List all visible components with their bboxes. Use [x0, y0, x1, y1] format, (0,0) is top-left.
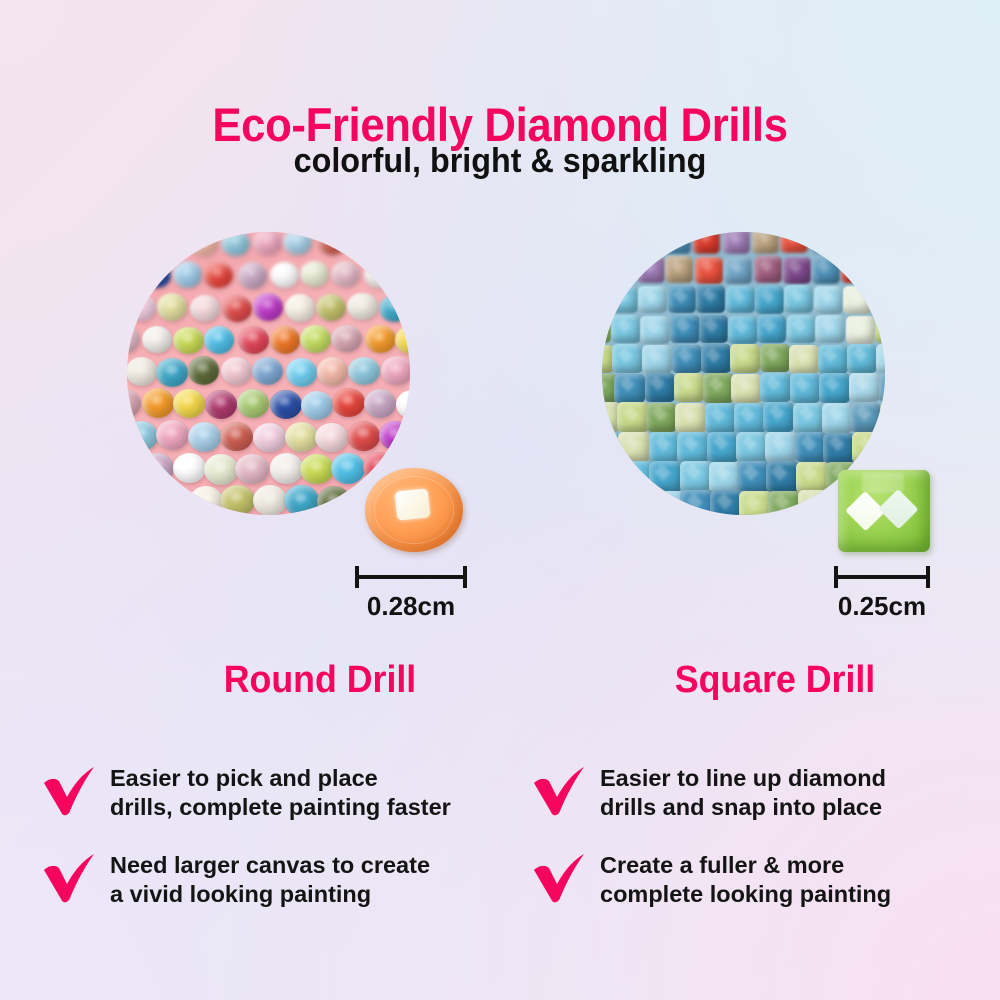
- round-bead: [270, 390, 302, 419]
- square-bead: [635, 232, 663, 254]
- square-bead: [640, 316, 669, 344]
- round-bead: [173, 261, 202, 288]
- square-bead: [675, 403, 706, 433]
- bullet-line: Easier to line up diamond: [600, 764, 886, 793]
- round-bead: [142, 262, 171, 289]
- square-bead: [839, 232, 867, 254]
- square-bead: [818, 345, 848, 374]
- round-bead: [173, 453, 207, 483]
- square-drill-heading: Square Drill: [634, 659, 916, 702]
- dimension-cap-right: [463, 566, 467, 588]
- round-bead: [157, 293, 187, 320]
- square-bead: [734, 403, 765, 433]
- square-bead: [760, 373, 791, 402]
- round-bead: [189, 232, 218, 256]
- square-bead: [649, 432, 681, 462]
- round-bead: [331, 261, 360, 288]
- square-bead: [876, 344, 885, 373]
- square-bead: [766, 461, 799, 492]
- round-bead: [127, 421, 158, 451]
- round-bead: [156, 486, 190, 515]
- round-bead: [286, 358, 318, 386]
- square-bead: [852, 432, 884, 462]
- square-bead: [843, 286, 872, 313]
- round-bead: [221, 357, 253, 385]
- square-bead: [693, 232, 721, 254]
- square-bead: [611, 315, 640, 343]
- round-bead: [173, 327, 204, 355]
- square-bead: [705, 403, 736, 433]
- square-bead: [605, 232, 633, 253]
- square-bead: [637, 256, 665, 283]
- square-bead: [617, 402, 648, 432]
- round-bead: [188, 356, 220, 384]
- square-bead: [783, 257, 811, 284]
- round-bead: [205, 390, 237, 419]
- round-bead: [283, 232, 312, 255]
- square-bead: [730, 344, 760, 373]
- round-bead: [127, 261, 140, 288]
- round-bead: [348, 357, 380, 385]
- round-bead: [235, 454, 269, 484]
- dimension-line: [834, 575, 930, 579]
- round-bead-field: [127, 232, 410, 515]
- round-bead: [381, 232, 410, 256]
- square-bead: [674, 373, 705, 402]
- round-bead: [156, 420, 189, 450]
- round-bead: [252, 357, 284, 385]
- round-bead: [331, 453, 365, 483]
- square-bead: [663, 232, 691, 254]
- square-bead: [868, 232, 886, 253]
- square-bead: [731, 374, 762, 403]
- round-bead: [379, 421, 410, 451]
- round-bead: [395, 326, 410, 354]
- bullet-line: Easier to pick and place: [110, 764, 451, 793]
- square-drill-highlight-left: [845, 491, 885, 531]
- round-bead: [347, 421, 380, 451]
- round-bead: [300, 454, 334, 484]
- square-bead: [815, 315, 844, 343]
- bullet-line: a vivid looking painting: [110, 880, 430, 909]
- round-bead: [127, 485, 160, 515]
- round-bead: [396, 390, 410, 419]
- square-bead: [726, 286, 755, 313]
- square-bead: [793, 403, 824, 433]
- round-drill-photo: [127, 232, 410, 515]
- square-bead: [695, 257, 723, 284]
- round-bead: [221, 232, 250, 256]
- square-bead: [811, 232, 839, 253]
- square-bead: [875, 315, 885, 343]
- round-bead: [270, 262, 299, 289]
- round-bead: [253, 293, 283, 320]
- round-bead: [238, 326, 269, 354]
- square-bead: [823, 433, 855, 463]
- round-bead: [284, 485, 318, 515]
- check-icon-glyph: [532, 766, 588, 818]
- round-bead: [142, 388, 174, 417]
- square-bead: [780, 232, 808, 253]
- bullet-item: Easier to line up diamonddrills and snap…: [532, 762, 992, 821]
- square-bead: [724, 257, 752, 284]
- square-bead: [752, 232, 780, 254]
- square-bead: [670, 315, 699, 343]
- square-bead: [763, 402, 794, 432]
- square-bead: [850, 403, 881, 433]
- square-bead: [814, 286, 843, 313]
- square-bead: [668, 286, 697, 313]
- round-bead: [381, 356, 410, 384]
- round-bead: [127, 232, 154, 256]
- round-size-indicator: 0.28cm: [355, 566, 467, 622]
- square-bead: [812, 257, 840, 284]
- square-bead: [755, 286, 784, 313]
- square-bead: [680, 461, 713, 492]
- check-icon: [532, 853, 588, 905]
- check-icon-glyph: [532, 853, 588, 905]
- square-bead: [728, 316, 757, 344]
- round-bead: [127, 389, 141, 418]
- square-bead: [881, 432, 885, 462]
- round-bead: [316, 294, 346, 321]
- round-bead: [347, 293, 377, 320]
- round-bead: [204, 326, 235, 354]
- round-bead: [364, 389, 396, 418]
- round-bead: [253, 485, 287, 515]
- round-bead: [332, 388, 364, 417]
- bullet-item: Easier to pick and placedrills, complete…: [42, 762, 502, 821]
- square-bead: [765, 432, 797, 462]
- dimension-cap-right: [926, 566, 930, 588]
- square-bead: [614, 374, 645, 403]
- square-drill-highlight-right: [878, 489, 918, 529]
- bullet-line: drills, complete painting faster: [110, 793, 451, 822]
- square-bead: [696, 285, 725, 312]
- square-bead: [618, 432, 650, 462]
- round-bead: [127, 294, 156, 321]
- square-bead: [822, 403, 853, 433]
- square-bead: [638, 286, 667, 313]
- round-bead: [190, 295, 220, 322]
- round-bead: [156, 232, 185, 255]
- square-bead: [737, 461, 770, 492]
- square-bead: [642, 345, 672, 374]
- round-bead: [348, 232, 377, 255]
- round-bead: [188, 422, 221, 452]
- round-drill-bullet-list: Easier to pick and placedrills, complete…: [42, 762, 502, 937]
- round-bead: [142, 326, 173, 354]
- round-drill-heading: Round Drill: [179, 659, 461, 702]
- bullet-item: Create a fuller & morecomplete looking p…: [532, 849, 992, 908]
- square-bead: [665, 256, 693, 283]
- bullet-line: drills and snap into place: [600, 793, 886, 822]
- square-bead: [872, 285, 885, 312]
- round-bead: [127, 357, 157, 385]
- round-bead: [156, 358, 188, 386]
- round-bead: [253, 232, 282, 255]
- round-bead: [203, 262, 232, 289]
- square-bead: [790, 373, 821, 402]
- bullet-line: complete looking painting: [600, 880, 891, 909]
- round-bead: [301, 391, 333, 420]
- square-bead: [846, 316, 875, 344]
- check-icon-glyph: [42, 766, 98, 818]
- square-bead: [672, 345, 702, 374]
- bullet-line: Need larger canvas to create: [110, 851, 430, 880]
- square-bead: [602, 286, 609, 313]
- round-bead: [270, 326, 301, 354]
- square-bead: [760, 344, 790, 373]
- square-bead: [707, 432, 739, 462]
- infographic-poster: Eco-Friendly Diamond Drills colorful, br…: [0, 0, 1000, 1000]
- square-bead: [841, 256, 869, 283]
- bullet-text: Create a fuller & morecomplete looking p…: [600, 849, 891, 908]
- square-bead: [879, 373, 885, 402]
- square-bead: [757, 315, 786, 343]
- round-bead: [238, 262, 267, 289]
- square-bead: [787, 315, 816, 343]
- square-drill-closeup: [838, 470, 930, 552]
- square-drill-bullet-list: Easier to line up diamonddrills and snap…: [532, 762, 992, 937]
- round-size-label: 0.28cm: [355, 591, 467, 622]
- bullet-text: Need larger canvas to createa vivid look…: [110, 849, 430, 908]
- square-bead: [754, 256, 782, 283]
- bullet-text: Easier to line up diamonddrills and snap…: [600, 762, 886, 821]
- square-size-label: 0.25cm: [834, 591, 930, 622]
- check-icon-glyph: [42, 853, 98, 905]
- round-bead: [285, 294, 315, 321]
- square-bead: [610, 286, 639, 313]
- bullet-line: Create a fuller & more: [600, 851, 891, 880]
- round-bead: [315, 423, 348, 453]
- round-bead: [173, 389, 205, 418]
- square-bead: [871, 256, 885, 283]
- square-bead: [819, 373, 850, 402]
- check-icon: [532, 766, 588, 818]
- round-bead: [237, 389, 269, 418]
- square-bead: [849, 373, 880, 402]
- round-bead: [222, 295, 252, 322]
- square-bead: [699, 315, 728, 343]
- round-bead: [127, 325, 140, 353]
- square-bead: [701, 344, 731, 373]
- check-icon: [42, 853, 98, 905]
- bullet-item: Need larger canvas to createa vivid look…: [42, 849, 502, 908]
- round-bead: [253, 423, 286, 453]
- round-bead: [189, 486, 223, 515]
- square-bead: [649, 461, 682, 492]
- round-bead: [379, 295, 409, 322]
- square-bead: [622, 490, 655, 515]
- round-bead: [317, 486, 351, 515]
- square-bead: [736, 432, 768, 462]
- round-bead: [140, 453, 174, 483]
- round-drill-highlight: [395, 488, 431, 520]
- round-bead: [331, 325, 362, 353]
- round-bead: [318, 232, 347, 255]
- square-bead: [680, 490, 713, 515]
- round-bead: [204, 454, 238, 484]
- dimension-line: [355, 575, 467, 579]
- page-subtitle: colorful, bright & sparkling: [25, 142, 975, 181]
- round-bead: [220, 485, 254, 515]
- round-bead: [365, 325, 396, 353]
- round-bead: [364, 262, 393, 289]
- square-bead: [645, 373, 676, 402]
- square-dimension-bar: [834, 566, 930, 586]
- square-bead: [646, 403, 677, 433]
- check-icon: [42, 766, 98, 818]
- square-bead: [796, 462, 829, 493]
- square-bead: [602, 232, 603, 253]
- square-bead: [880, 403, 885, 433]
- square-size-indicator: 0.25cm: [834, 566, 930, 622]
- square-bead: [602, 315, 611, 343]
- round-bead: [300, 261, 329, 288]
- square-bead: [795, 432, 827, 462]
- square-bead: [703, 373, 734, 402]
- bullet-text: Easier to pick and placedrills, complete…: [110, 762, 451, 821]
- round-bead: [317, 357, 349, 385]
- round-bead: [220, 422, 253, 452]
- round-drill-closeup: [365, 468, 463, 552]
- round-bead: [270, 453, 304, 483]
- round-bead: [300, 325, 331, 353]
- round-bead: [285, 422, 318, 452]
- square-bead: [723, 232, 751, 254]
- round-bead: [397, 261, 410, 288]
- square-bead: [784, 285, 813, 312]
- square-bead: [606, 256, 634, 283]
- square-bead: [768, 491, 801, 515]
- square-bead: [677, 432, 709, 462]
- square-bead: [847, 344, 877, 373]
- square-bead: [789, 345, 819, 374]
- square-bead: [612, 344, 642, 373]
- round-dimension-bar: [355, 566, 467, 586]
